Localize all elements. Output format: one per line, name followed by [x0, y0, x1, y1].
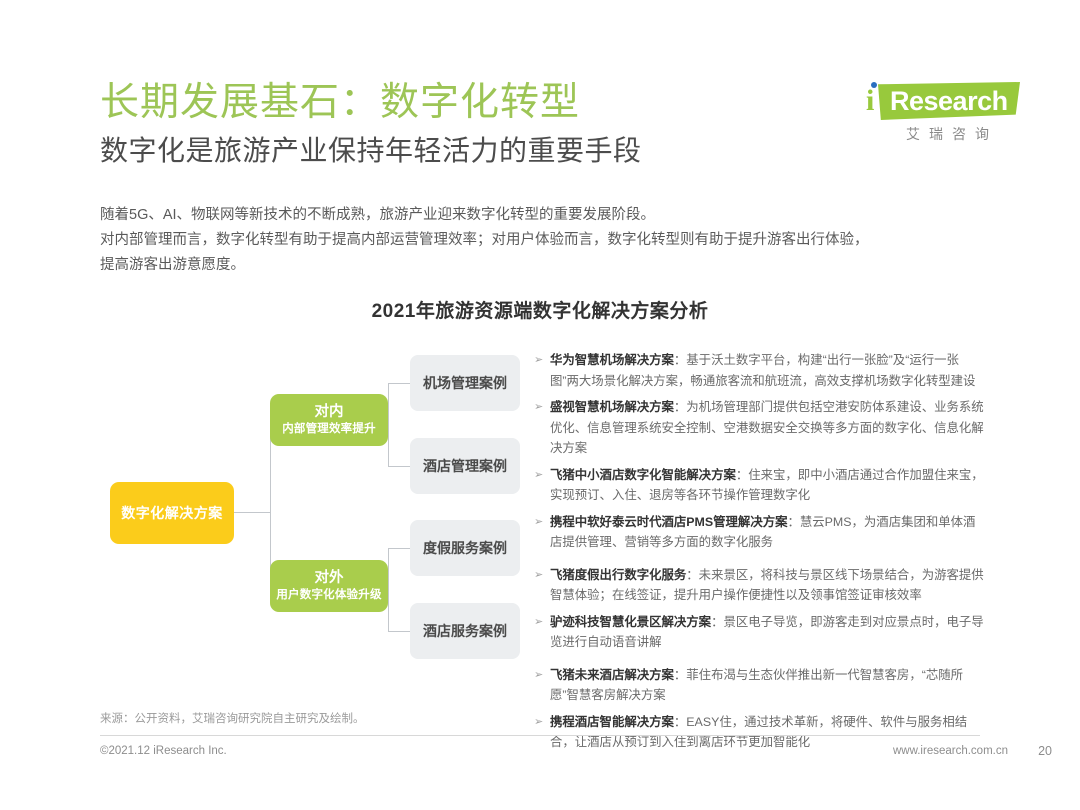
intro-line-1: 随着5G、AI、物联网等新技术的不断成熟，旅游产业迎来数字化转型的重要发展阶段。 — [100, 203, 980, 228]
bullet-text: 飞猪未来酒店解决方案：菲住布渴与生态伙伴推出新一代智慧客房，“芯随所愿”智慧客房… — [550, 665, 986, 706]
connector-root-vertical — [270, 420, 271, 587]
branch-external-sub: 用户数字化体验升级 — [276, 587, 381, 603]
arrow-bullet-icon: ➢ — [534, 350, 550, 391]
intro-paragraph: 随着5G、AI、物联网等新技术的不断成熟，旅游产业迎来数字化转型的重要发展阶段。… — [100, 203, 980, 278]
bullet-text: 驴迹科技智慧化景区解决方案：景区电子导览，即游客走到对应景点时，电子导览进行自动… — [550, 612, 986, 653]
bullet-title: 华为智慧机场解决方案 — [550, 353, 674, 367]
bullet-title: 携程中软好泰云时代酒店PMS管理解决方案 — [550, 515, 788, 529]
bullet-item: ➢ 盛视智慧机场解决方案：为机场管理部门提供包括空港安防体系建设、业务系统优化、… — [534, 397, 986, 459]
connector-b2-vertical — [388, 548, 389, 631]
arrow-bullet-icon: ➢ — [534, 612, 550, 653]
arrow-bullet-icon: ➢ — [534, 397, 550, 459]
diagram-leaf-hotel-management[interactable]: 酒店管理案例 — [410, 438, 520, 494]
iresearch-logo: i Research 艾瑞咨询 — [860, 80, 1028, 150]
connector-b1-leaf1 — [388, 383, 410, 384]
bullet-item: ➢ 驴迹科技智慧化景区解决方案：景区电子导览，即游客走到对应景点时，电子导览进行… — [534, 612, 986, 653]
bullet-text: 携程中软好泰云时代酒店PMS管理解决方案：慧云PMS，为酒店集团和单体酒店提供管… — [550, 512, 986, 553]
chart-title: 2021年旅游资源端数字化解决方案分析 — [0, 296, 1080, 323]
source-note: 来源：公开资料，艾瑞咨询研究院自主研究及绘制。 — [100, 710, 365, 726]
page-subtitle: 数字化是旅游产业保持年轻活力的重要手段 — [100, 131, 860, 171]
diagram-leaf-airport-management[interactable]: 机场管理案例 — [410, 355, 520, 411]
footer-copyright: ©2021.12 iResearch Inc. — [100, 745, 227, 757]
bullet-title: 飞猪度假出行数字化服务 — [550, 568, 686, 582]
branch-internal-sub: 内部管理效率提升 — [282, 421, 376, 437]
bullet-item: ➢ 飞猪度假出行数字化服务：未来景区，将科技与景区线下场景结合，为游客提供智慧体… — [534, 565, 986, 606]
logo-dot-icon — [871, 82, 877, 88]
diagram-leaf-hotel-service[interactable]: 酒店服务案例 — [410, 603, 520, 659]
diagram-leaf-resort-service[interactable]: 度假服务案例 — [410, 520, 520, 576]
slide: 长期发展基石：数字化转型 数字化是旅游产业保持年轻活力的重要手段 i Resea… — [0, 0, 1080, 810]
bullet-item: ➢ 华为智慧机场解决方案：基于沃土数字平台，构建“出行一张脸”及“运行一张图”两… — [534, 350, 986, 391]
bullet-text: 飞猪中小酒店数字化智能解决方案：住来宝，即中小酒店通过合作加盟住来宝，实现预订、… — [550, 465, 986, 506]
intro-line-2: 对内部管理而言，数字化转型有助于提高内部运营管理效率；对用户体验而言，数字化转型… — [100, 228, 980, 253]
arrow-bullet-icon: ➢ — [534, 565, 550, 606]
bullet-text: 飞猪度假出行数字化服务：未来景区，将科技与景区线下场景结合，为游客提供智慧体验；… — [550, 565, 986, 606]
connector-b1-leaf2 — [388, 466, 410, 467]
page-title: 长期发展基石：数字化转型 — [100, 78, 860, 128]
solution-tree-diagram: 数字化解决方案 对内 内部管理效率提升 对外 用户数字化体验升级 机场管理案例 … — [100, 345, 530, 690]
arrow-bullet-icon: ➢ — [534, 665, 550, 706]
diagram-node-branch-external[interactable]: 对外 用户数字化体验升级 — [270, 560, 388, 612]
diagram-node-branch-internal[interactable]: 对内 内部管理效率提升 — [270, 394, 388, 446]
slide-header: 长期发展基石：数字化转型 数字化是旅游产业保持年轻活力的重要手段 — [100, 78, 860, 171]
intro-line-3: 提高游客出游意愿度。 — [100, 253, 980, 278]
bullet-item: ➢ 飞猪中小酒店数字化智能解决方案：住来宝，即中小酒店通过合作加盟住来宝，实现预… — [534, 465, 986, 506]
arrow-bullet-icon: ➢ — [534, 712, 550, 753]
connector-root-stem — [234, 512, 270, 513]
bullet-title: 飞猪未来酒店解决方案 — [550, 668, 674, 682]
bullet-title: 携程酒店智能解决方案 — [550, 715, 674, 729]
bullet-item: ➢ 携程中软好泰云时代酒店PMS管理解决方案：慧云PMS，为酒店集团和单体酒店提… — [534, 512, 986, 553]
footer-page-number: 20 — [1038, 744, 1052, 758]
connector-b2-leaf4 — [388, 631, 410, 632]
bullet-text: 盛视智慧机场解决方案：为机场管理部门提供包括空港安防体系建设、业务系统优化、信息… — [550, 397, 986, 459]
branch-external-main: 对外 — [315, 569, 344, 587]
footer-website: www.iresearch.com.cn — [893, 745, 1008, 757]
connector-b2-leaf3 — [388, 548, 410, 549]
connector-b1-vertical — [388, 383, 389, 466]
bullet-item: ➢ 飞猪未来酒店解决方案：菲住布渴与生态伙伴推出新一代智慧客房，“芯随所愿”智慧… — [534, 665, 986, 706]
logo-letter-i: i — [866, 86, 874, 116]
footer-divider — [100, 735, 980, 736]
arrow-bullet-icon: ➢ — [534, 465, 550, 506]
logo-mark: i Research — [860, 80, 1020, 124]
logo-chinese-name: 艾瑞咨询 — [882, 124, 1022, 144]
bullet-title: 驴迹科技智慧化景区解决方案 — [550, 615, 711, 629]
arrow-bullet-icon: ➢ — [534, 512, 550, 553]
logo-wordmark: Research — [890, 85, 1008, 117]
branch-internal-main: 对内 — [315, 403, 344, 421]
bullet-text: 华为智慧机场解决方案：基于沃土数字平台，构建“出行一张脸”及“运行一张图”两大场… — [550, 350, 986, 391]
diagram-node-root[interactable]: 数字化解决方案 — [110, 482, 234, 544]
solution-bullet-list: ➢ 华为智慧机场解决方案：基于沃土数字平台，构建“出行一张脸”及“运行一张图”两… — [534, 350, 986, 759]
bullet-title: 盛视智慧机场解决方案 — [550, 400, 674, 414]
bullet-title: 飞猪中小酒店数字化智能解决方案 — [550, 468, 736, 482]
